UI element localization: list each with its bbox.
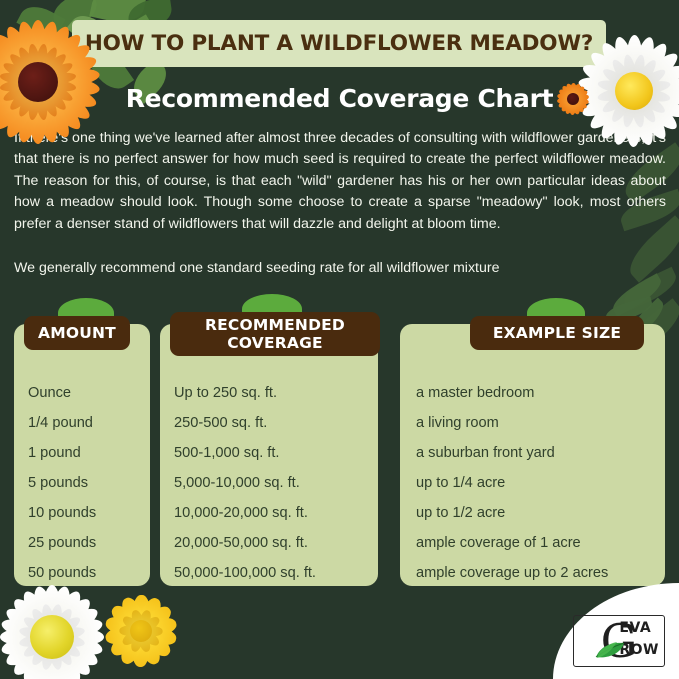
table-cell: Ounce — [28, 378, 136, 408]
column-cells-example: a master bedroom a living room a suburba… — [400, 378, 665, 588]
small-orange-flower-icon — [556, 82, 590, 116]
table-cell: 25 pounds — [28, 528, 136, 558]
intro-paragraph: If there's one thing we've learned after… — [14, 128, 666, 235]
table-column-amount: Ounce 1/4 pound 1 pound 5 pounds 10 poun… — [14, 324, 150, 586]
coverage-table: Ounce 1/4 pound 1 pound 5 pounds 10 poun… — [0, 296, 679, 596]
column-header-example-size: EXAMPLE SIZE — [470, 316, 644, 350]
logo-text-row: ROW — [619, 643, 659, 658]
recommendation-paragraph: We generally recommend one standard seed… — [14, 258, 666, 279]
logo-text-eva: EVA — [619, 621, 659, 636]
table-cell: 1 pound — [28, 438, 136, 468]
column-header-label: RECOMMENDED COVERAGE — [170, 316, 380, 352]
table-cell: 250-500 sq. ft. — [174, 408, 364, 438]
table-cell: 5 pounds — [28, 468, 136, 498]
column-cells-coverage: Up to 250 sq. ft. 250-500 sq. ft. 500-1,… — [160, 378, 378, 588]
yellow-coreopsis-flower-icon — [98, 588, 184, 674]
column-header-label: EXAMPLE SIZE — [493, 324, 621, 342]
flower-center — [30, 615, 74, 659]
page-title: HOW TO PLANT A WILDFLOWER MEADOW? — [85, 31, 593, 56]
logo-leaf-icon — [595, 641, 625, 659]
column-header-coverage: RECOMMENDED COVERAGE — [170, 312, 380, 356]
title-banner: HOW TO PLANT A WILDFLOWER MEADOW? — [72, 20, 606, 67]
table-cell: Up to 250 sq. ft. — [174, 378, 364, 408]
orange-calendula-flower-icon — [0, 12, 108, 152]
table-cell: 5,000-10,000 sq. ft. — [174, 468, 364, 498]
table-cell: 10 pounds — [28, 498, 136, 528]
table-cell: a suburban front yard — [416, 438, 651, 468]
table-cell: 50,000-100,000 sq. ft. — [174, 558, 364, 588]
column-header-label: AMOUNT — [38, 324, 116, 342]
logo-wordmark: EVA ROW — [619, 621, 659, 658]
flower-center — [18, 62, 58, 102]
poster-root: HOW TO PLANT A WILDFLOWER MEADOW? Recomm… — [0, 0, 679, 679]
column-header-amount: AMOUNT — [24, 316, 130, 350]
flower-center — [567, 93, 579, 105]
flower-center — [130, 620, 152, 642]
eva-grow-logo: G EVA ROW — [573, 615, 665, 667]
table-cell: ample coverage of 1 acre — [416, 528, 651, 558]
table-cell: a master bedroom — [416, 378, 651, 408]
table-cell: 1/4 pound — [28, 408, 136, 438]
table-cell: 20,000-50,000 sq. ft. — [174, 528, 364, 558]
table-cell: ample coverage up to 2 acres — [416, 558, 651, 588]
page-subtitle: Recommended Coverage Chart — [126, 84, 554, 113]
table-cell: 10,000-20,000 sq. ft. — [174, 498, 364, 528]
table-cell: up to 1/2 acre — [416, 498, 651, 528]
table-column-coverage: Up to 250 sq. ft. 250-500 sq. ft. 500-1,… — [160, 324, 378, 586]
table-cell: a living room — [416, 408, 651, 438]
column-cells-amount: Ounce 1/4 pound 1 pound 5 pounds 10 poun… — [14, 378, 150, 588]
table-cell: up to 1/4 acre — [416, 468, 651, 498]
flower-center — [615, 72, 653, 110]
table-cell: 500-1,000 sq. ft. — [174, 438, 364, 468]
table-column-example-size: a master bedroom a living room a suburba… — [400, 324, 665, 586]
